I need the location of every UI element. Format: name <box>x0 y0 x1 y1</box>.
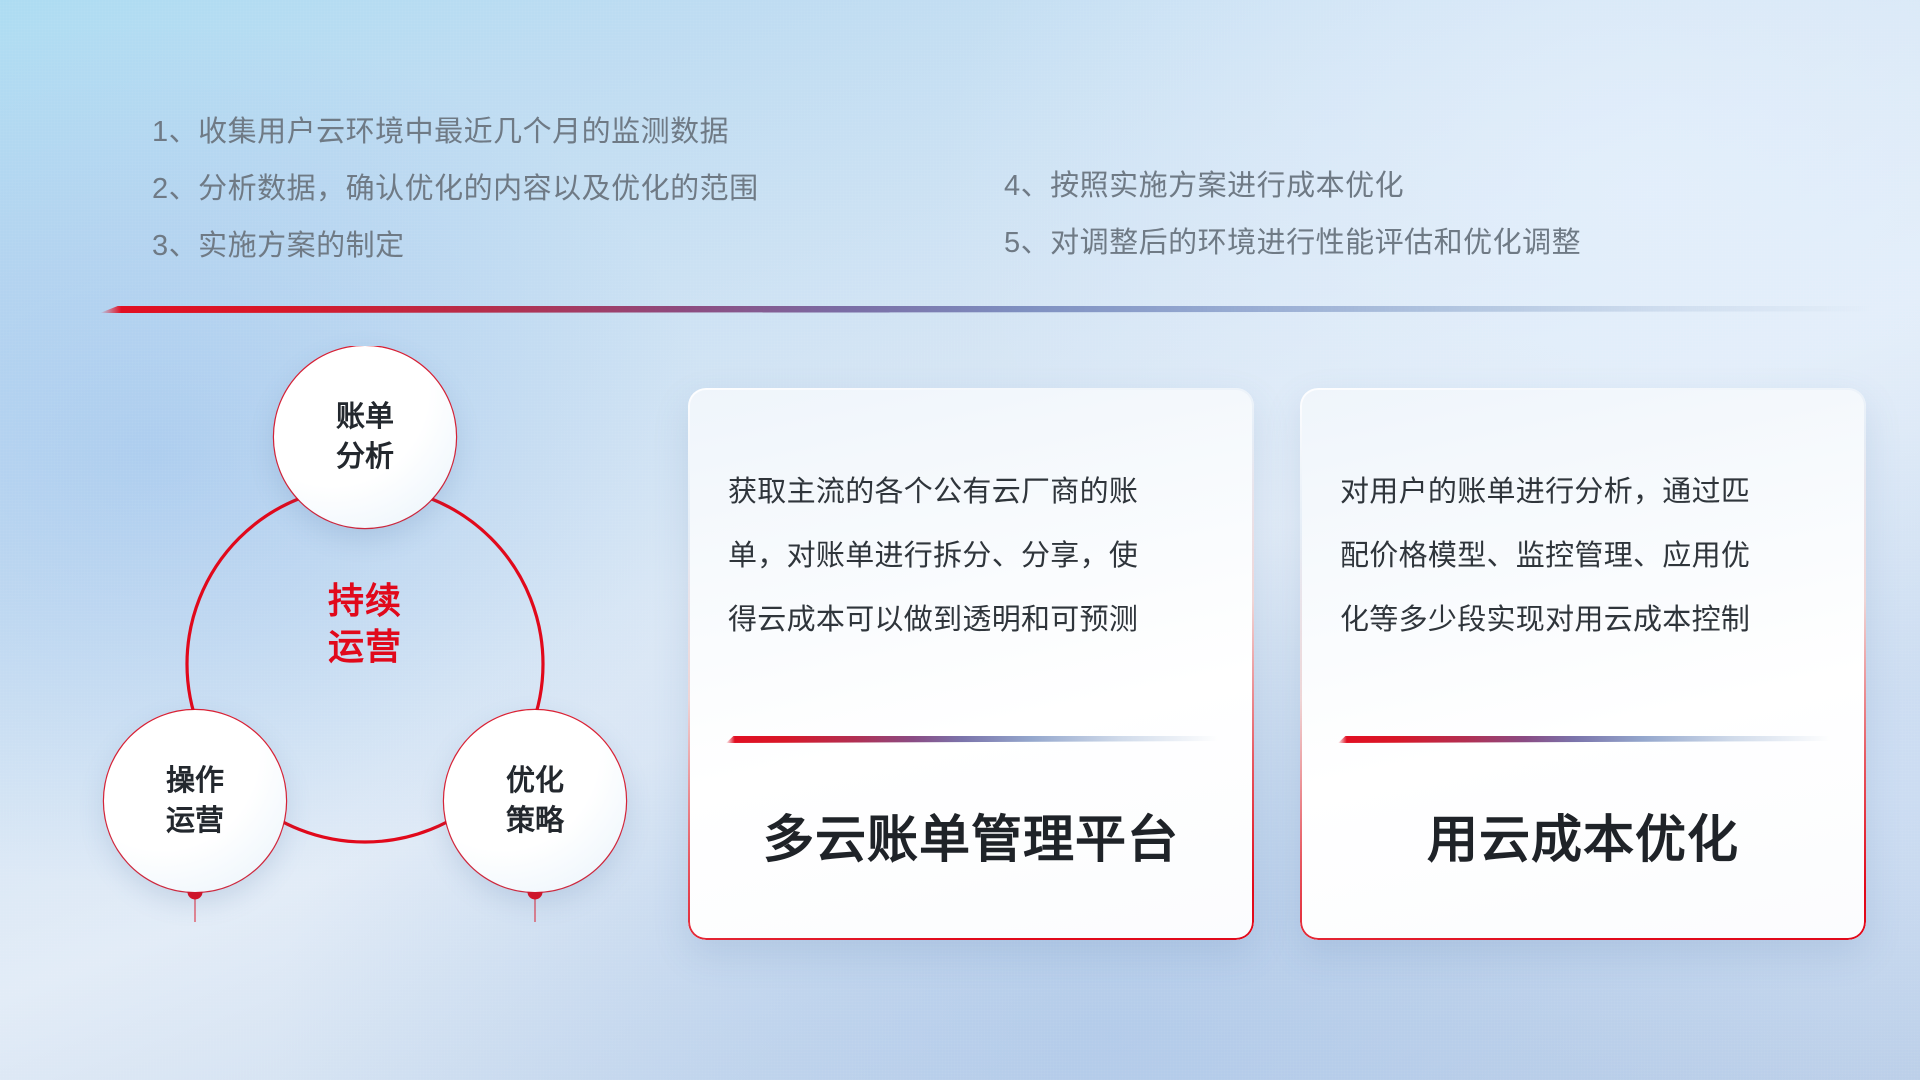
card-body-text: 获取主流的各个公有云厂商的账 单，对账单进行拆分、分享，使 得云成本可以做到透明… <box>728 460 1220 652</box>
card-title: 多云账单管理平台 <box>688 798 1254 872</box>
step-item-4: 4、按照实施方案进行成本优化 <box>1004 158 1581 215</box>
venn-center-label-line-1: 持续 <box>274 578 456 624</box>
venn-bubble-label-line-2: 运营 <box>166 801 224 841</box>
venn-diagram: 账单 分析 操作 运营 优化 策略 持续 运营 <box>96 346 656 966</box>
steps-column-left: 1、收集用户云环境中最近几个月的监测数据 2、分析数据，确认优化的内容以及优化的… <box>152 104 759 275</box>
venn-center-label-line-2: 运营 <box>274 624 456 670</box>
card-accent-rule <box>726 736 1218 743</box>
steps-column-right: 4、按照实施方案进行成本优化 5、对调整后的环境进行性能评估和优化调整 <box>1004 158 1581 272</box>
venn-bubble-operations[interactable]: 操作 运营 <box>104 710 286 892</box>
venn-bubble-label-line-2: 策略 <box>506 801 564 841</box>
card-accent-rule <box>1338 736 1830 743</box>
venn-bubble-label-line-2: 分析 <box>336 437 394 477</box>
card-body-line-2: 配价格模型、监控管理、应用优 <box>1340 524 1832 588</box>
card-body-line-2: 单，对账单进行拆分、分享，使 <box>728 524 1220 588</box>
step-item-5: 5、对调整后的环境进行性能评估和优化调整 <box>1004 215 1581 272</box>
step-item-3: 3、实施方案的制定 <box>152 218 759 275</box>
card-body-text: 对用户的账单进行分析，通过匹 配价格模型、监控管理、应用优 化等多少段实现对用云… <box>1340 460 1832 652</box>
venn-bubble-label-line-1: 账单 <box>336 397 394 437</box>
section-divider <box>100 306 1870 313</box>
venn-bubble-label-line-1: 优化 <box>506 761 564 801</box>
venn-bubble-bill-analysis[interactable]: 账单 分析 <box>274 346 456 528</box>
card-body-line-3: 得云成本可以做到透明和可预测 <box>728 588 1220 652</box>
venn-center-label: 持续 运营 <box>274 578 456 670</box>
card-title: 用云成本优化 <box>1300 798 1866 872</box>
step-item-1: 1、收集用户云环境中最近几个月的监测数据 <box>152 104 759 161</box>
venn-bubble-optimization-strategy[interactable]: 优化 策略 <box>444 710 626 892</box>
card-body-line-1: 对用户的账单进行分析，通过匹 <box>1340 460 1832 524</box>
card-body-line-3: 化等多少段实现对用云成本控制 <box>1340 588 1832 652</box>
step-item-2: 2、分析数据，确认优化的内容以及优化的范围 <box>152 161 759 218</box>
slide-root: 1、收集用户云环境中最近几个月的监测数据 2、分析数据，确认优化的内容以及优化的… <box>0 0 1920 1080</box>
steps-list: 1、收集用户云环境中最近几个月的监测数据 2、分析数据，确认优化的内容以及优化的… <box>0 104 1920 284</box>
card-body-line-1: 获取主流的各个公有云厂商的账 <box>728 460 1220 524</box>
venn-bubble-label-line-1: 操作 <box>166 761 224 801</box>
feature-card-multi-cloud-bill-platform[interactable]: 获取主流的各个公有云厂商的账 单，对账单进行拆分、分享，使 得云成本可以做到透明… <box>688 388 1254 940</box>
feature-card-cloud-cost-optimization[interactable]: 对用户的账单进行分析，通过匹 配价格模型、监控管理、应用优 化等多少段实现对用云… <box>1300 388 1866 940</box>
